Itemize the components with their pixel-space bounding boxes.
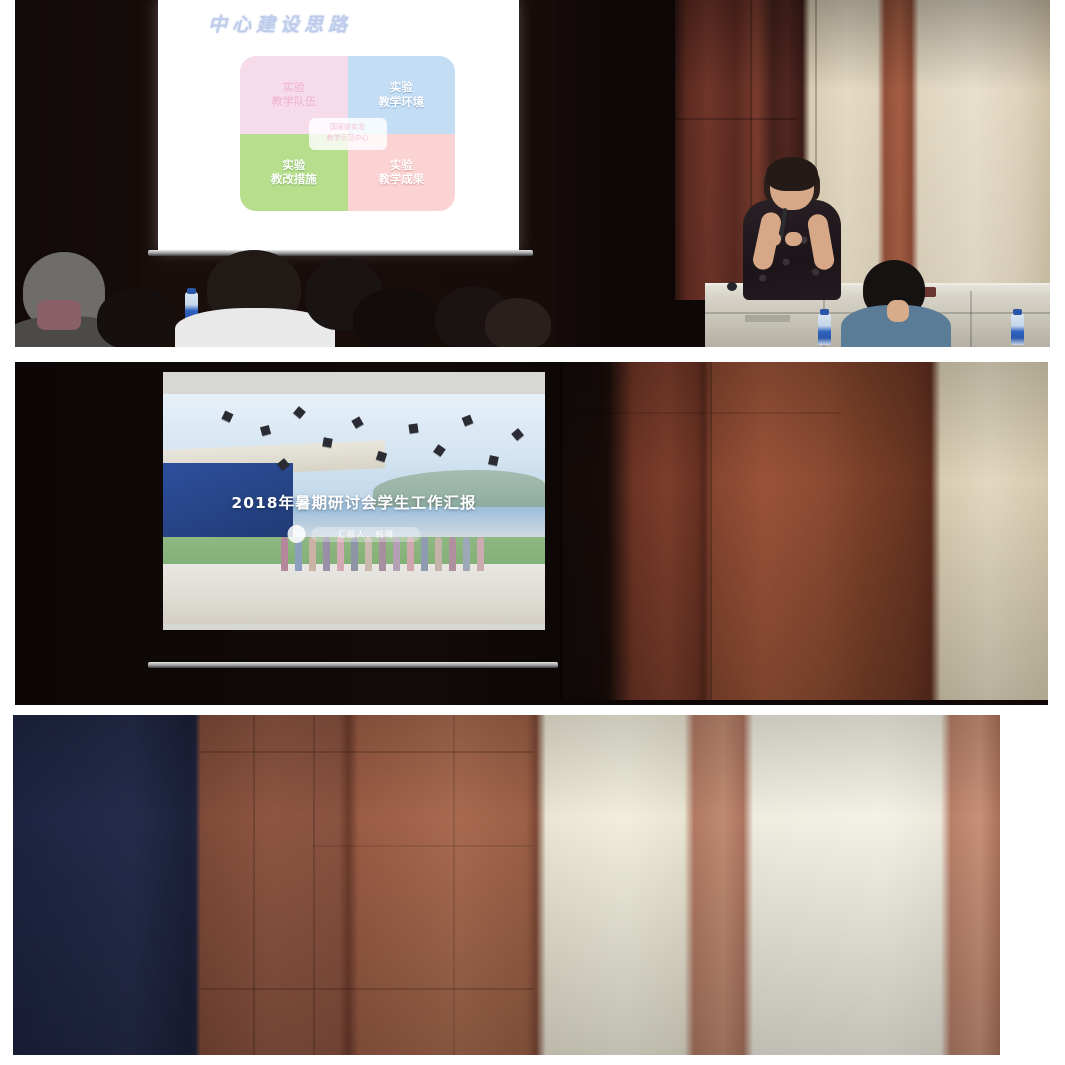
panel3-shading	[13, 715, 1000, 1055]
microphone-base	[727, 282, 737, 291]
water-bottle	[1011, 313, 1024, 345]
graduate-figure	[463, 537, 470, 571]
slide2-track	[163, 564, 545, 624]
bottle-cap	[187, 288, 196, 294]
graduate-figure	[435, 537, 442, 571]
projection-screen-1: 中心建设思路 实验 教学队伍 实验 教学环境 实验 教改措施	[158, 0, 519, 252]
center-label-line2: 教学示范中心	[327, 134, 369, 144]
wood-seam	[560, 412, 840, 414]
slide-2-title: 2018年暑期研讨会学生工作汇报	[163, 491, 545, 513]
graduation-cap-icon	[408, 423, 418, 433]
graduate-figure	[421, 537, 428, 571]
center-label-line1: 国家级实验	[330, 123, 365, 133]
quadrant-line2: 教改措施	[271, 172, 317, 186]
speaker-hand-left	[763, 232, 781, 246]
audience-head	[485, 298, 551, 347]
screen-roller-bar-2	[148, 662, 558, 668]
wood-seam	[453, 715, 455, 1055]
slide-2-subtitle-group: 汇报人：韩晴	[288, 525, 421, 543]
slide-2: 2018年暑期研讨会学生工作汇报 汇报人：韩晴	[163, 394, 545, 624]
quadrant-line2: 教学队伍	[272, 95, 316, 109]
graduate-figure	[449, 537, 456, 571]
quadrant-line2: 教学环境	[378, 95, 424, 109]
collage-panel-2[interactable]: 2018年暑期研讨会学生工作汇报 汇报人：韩晴	[15, 362, 1048, 705]
photo-collage: 中心建设思路 实验 教学队伍 实验 教学环境 实验 教改措施	[0, 0, 1065, 1065]
quadrant-center-label: 国家级实验 教学示范中心	[309, 118, 387, 150]
graduation-cap-icon	[322, 437, 332, 447]
slide-1-quadrant-diagram: 实验 教学队伍 实验 教学环境 实验 教改措施 实验 教学成果	[240, 56, 455, 211]
bottle-cap	[820, 309, 829, 315]
wood-seam	[313, 845, 533, 847]
wood-seam	[199, 988, 534, 990]
panel1-speaker-hair	[766, 157, 818, 191]
graduation-cap-icon	[488, 455, 499, 466]
bullet-dot-icon	[288, 525, 306, 543]
slide-2-subtitle: 汇报人：韩晴	[312, 527, 421, 542]
wood-seam	[313, 715, 315, 1055]
wood-seam	[675, 118, 797, 120]
audience-head	[97, 288, 177, 347]
water-bottle	[818, 313, 831, 345]
graduate-figure	[477, 537, 484, 571]
audience-head	[353, 288, 439, 347]
screen-roller-bar-1	[148, 250, 533, 256]
seated-person-neck	[887, 300, 909, 322]
audience-scarf	[37, 300, 81, 330]
slide-1-title: 中心建设思路	[208, 10, 352, 37]
desk-edge	[970, 291, 972, 347]
quadrant-line2: 教学成果	[378, 172, 424, 186]
wood-seam	[560, 362, 563, 700]
slide-1: 中心建设思路 实验 教学队伍 实验 教学环境 实验 教改措施	[158, 0, 519, 252]
collage-panel-1[interactable]: 中心建设思路 实验 教学队伍 实验 教学环境 实验 教改措施	[15, 0, 1050, 347]
quadrant-line1: 实验	[282, 158, 305, 172]
quadrant-line1: 实验	[390, 158, 413, 172]
collage-panel-3[interactable]	[13, 715, 1000, 1055]
speaker-hand-right	[785, 232, 802, 246]
quadrant-line1: 实验	[283, 81, 305, 95]
desk-label	[745, 315, 790, 322]
bottle-cap	[1013, 309, 1022, 315]
quadrant-line1: 实验	[390, 80, 413, 94]
wood-seam	[199, 751, 534, 753]
panel1-wall-shading	[675, 0, 1050, 300]
wood-seam	[253, 715, 255, 1055]
